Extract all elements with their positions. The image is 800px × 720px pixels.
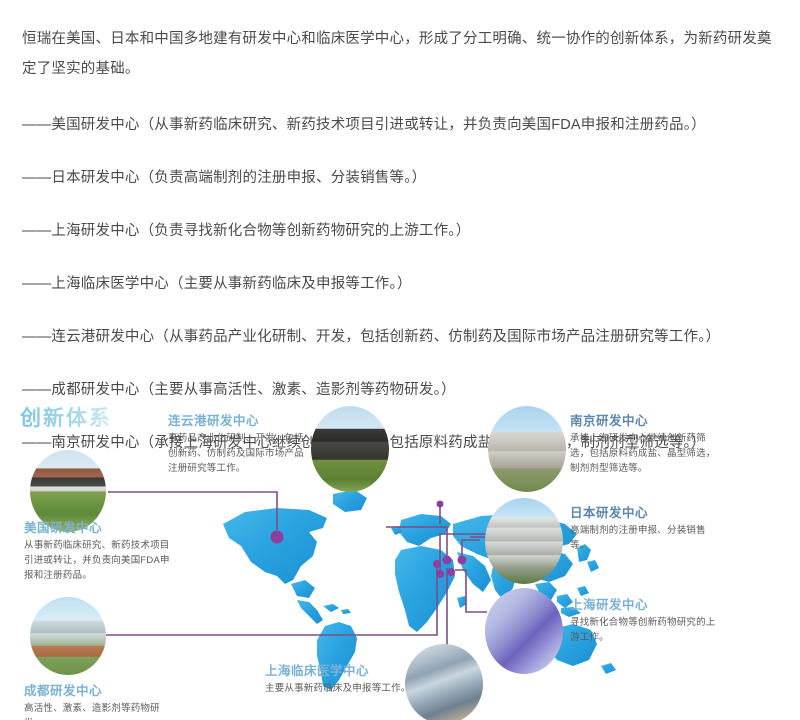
node-usa-title: 美国研发中心 <box>24 517 174 536</box>
node-lianyungang-title: 连云港研发中心 <box>168 410 312 429</box>
node-shanghai-clinical-desc: 主要从事新药临床及申报等工作。 <box>265 681 415 696</box>
node-shanghai-title: 上海研发中心 <box>570 594 720 613</box>
chengdu-building-photo <box>30 597 106 675</box>
node-japan-title: 日本研发中心 <box>570 502 720 521</box>
node-nanjing-title: 南京研发中心 <box>570 410 725 429</box>
infographic-title: 创新体系 <box>20 402 112 432</box>
node-chengdu-desc: 高活性、激素、造影剂等药物研发。 <box>24 701 174 720</box>
shanghai-clinical-photo <box>405 644 483 720</box>
node-lianyungang: 连云港研发中心 事药品产业化研制、开发，包括创新药、仿制药及国际市场产品注册研究… <box>168 410 312 476</box>
node-usa: 美国研发中心 从事新药临床研究、新药技术项目引进或转让，并负责向美国FDA申报和… <box>24 517 174 583</box>
node-usa-desc: 从事新药临床研究、新药技术项目引进或转让，并负责向美国FDA申报和注册药品。 <box>24 538 174 583</box>
node-japan: 日本研发中心 高端制剂的注册申报、分装销售等。 <box>570 502 720 553</box>
node-shanghai-clinical-title: 上海临床医学中心 <box>265 660 415 679</box>
article-item-shanghai-clinical: ——上海临床医学中心（主要从事新药临床及申报等工作。） <box>22 269 778 299</box>
article-item-lianyungang: ——连云港研发中心（从事药品产业化研制、开发，包括创新药、仿制药及国际市场产品注… <box>22 322 778 352</box>
page-root: 恒瑞在美国、日本和中国多地建有研发中心和临床医学中心，形成了分工明确、统一协作的… <box>0 0 800 720</box>
lianyungang-building-photo <box>311 406 389 492</box>
node-japan-desc: 高端制剂的注册申报、分装销售等。 <box>570 523 720 553</box>
node-chengdu: 成都研发中心 高活性、激素、造影剂等药物研发。 <box>24 680 174 720</box>
node-lianyungang-desc: 事药品产业化研制、开发，包括创新药、仿制药及国际市场产品注册研究等工作。 <box>168 431 312 476</box>
article-lead-paragraph: 恒瑞在美国、日本和中国多地建有研发中心和临床医学中心，形成了分工明确、统一协作的… <box>22 24 778 84</box>
node-nanjing: 南京研发中心 承接上海研发中心继续创新药筛选，包括原料药成盐、晶型筛选，制剂剂型… <box>570 410 725 476</box>
article-item-shanghai: ——上海研发中心（负责寻找新化合物等创新药物研究的上游工作。） <box>22 216 778 246</box>
shanghai-lab-photo <box>485 588 563 674</box>
japan-building-photo <box>485 498 563 584</box>
nanjing-building-photo <box>488 406 566 492</box>
node-shanghai-clinical: 上海临床医学中心 主要从事新药临床及申报等工作。 <box>265 660 415 696</box>
article-item-japan: ——日本研发中心（负责高端制剂的注册申报、分装销售等。） <box>22 163 778 193</box>
article-item-usa: ——美国研发中心（从事新药临床研究、新药技术项目引进或转让，并负责向美国FDA申… <box>22 110 778 140</box>
node-nanjing-desc: 承接上海研发中心继续创新药筛选，包括原料药成盐、晶型筛选，制剂剂型筛选等。 <box>570 431 725 476</box>
node-chengdu-title: 成都研发中心 <box>24 680 174 699</box>
innovation-system-infographic: 创新体系 <box>0 392 800 720</box>
node-shanghai-desc: 寻找新化合物等创新药物研究的上游工作。 <box>570 615 720 645</box>
node-shanghai: 上海研发中心 寻找新化合物等创新药物研究的上游工作。 <box>570 594 720 645</box>
